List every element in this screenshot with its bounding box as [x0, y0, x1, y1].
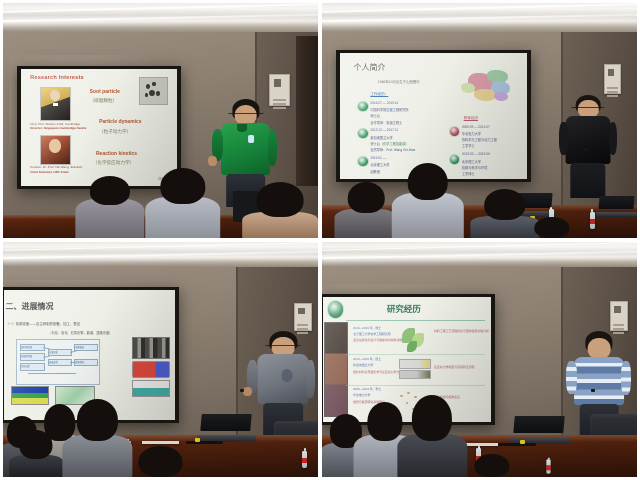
presenter-glasses — [266, 345, 301, 346]
presenter-glasses — [228, 113, 263, 114]
audience-member — [398, 395, 467, 477]
row-2-period: 2013—2016 年，硕士 — [353, 357, 381, 361]
water-bottle — [302, 451, 307, 468]
shirt-graphic — [281, 369, 292, 382]
gel-band-figure — [399, 370, 431, 380]
soot-particle-image — [139, 77, 168, 105]
ceiling-cove-lighting — [322, 3, 637, 34]
edu-1-role: 热科学与工程与动力工程 — [462, 137, 497, 142]
row-3-org: 华北电力大学 — [353, 393, 370, 397]
audience-member — [335, 182, 398, 238]
row-2-org: 新加坡国立大学 — [353, 363, 373, 367]
slide-title: Research Interests — [30, 75, 84, 81]
work-3-org: 北京理工大学 — [370, 162, 389, 167]
work-3-period: 2019.01 — — [370, 156, 386, 160]
projection-screen: 个人简介 1986年10月出生于山西晋中 工作经历： 2016.07 — 201… — [340, 53, 527, 179]
flow-node: 纺丝成型 — [20, 363, 45, 371]
work-2-org: 新加坡国立大学 — [370, 135, 392, 140]
wall-control-panel[interactable] — [604, 64, 622, 94]
gel-band-figure — [399, 359, 431, 369]
audience-member — [63, 399, 132, 477]
edu-1-degree: 工学学士 — [462, 143, 475, 148]
collage-panel-bottom-right: 研究经历 2016—2019 年，博士 北京理工大学化学工程研究所 发表在催化剂… — [322, 242, 637, 477]
audience-glasses — [118, 196, 128, 199]
presenter-hand-left — [208, 156, 217, 167]
edu-2-degree: 工学博士 — [462, 171, 475, 176]
slide-subtitle: 1986年10月出生于山西晋中 — [378, 79, 420, 84]
bullet-2-cn: （粒子动力学） — [99, 129, 131, 135]
row-2-outcome: 反应动力学模型与实验验证对照 — [434, 365, 474, 369]
laptop[interactable] — [599, 196, 634, 217]
work-1-period: 2016.07 — 2019.12 — [370, 101, 398, 105]
title-rule — [346, 320, 484, 321]
collage-panel-top-left: Research Interests Host: Prof. Markus Kr… — [3, 3, 318, 238]
portrait-1-caption-line2: Director, Singapore Cambridge Centre — [30, 126, 86, 130]
presentation-clicker[interactable] — [240, 389, 244, 392]
row-divider — [346, 354, 484, 355]
row-3-period: 2009—2013 年，学士 — [353, 387, 381, 391]
university-emblem-icon — [327, 300, 344, 318]
sem-micrograph — [132, 337, 170, 360]
slide-subtitle: （一）前期准备——自主研制的制备、加工、表征 — [6, 321, 81, 326]
door-frame — [296, 36, 318, 186]
presenter-glasses — [572, 107, 605, 108]
portrait-2-caption-line2: Chief Scientist, USC Fuels — [30, 170, 69, 174]
presenter-legs — [570, 163, 605, 198]
shirt-collar — [238, 124, 248, 132]
audience-member — [145, 168, 221, 239]
wall-control-panel[interactable] — [610, 301, 628, 331]
portrait-2-caption-line1: Position: Dr. Prof. Hai Wang, Stanford — [30, 165, 82, 169]
slide-title: 个人简介 — [354, 62, 386, 73]
presenter-arm-left — [559, 122, 568, 155]
flow-node: 原料预处理 — [20, 344, 45, 352]
ceiling-cove-lighting — [3, 242, 318, 268]
photo-collage: Research Interests Host: Prof. Markus Kr… — [0, 0, 640, 480]
color-map-figure — [132, 361, 170, 377]
presenter-torso — [566, 116, 611, 164]
bullet-3-en: Reaction kinetics — [96, 151, 137, 157]
section-right-header: 教育经历 — [464, 116, 478, 121]
bullet-2-en: Particle dynamics — [99, 119, 142, 125]
row-1-period: 2016—2019 年，博士 — [353, 326, 381, 330]
laptop[interactable] — [201, 414, 251, 442]
china-map-graphic — [456, 65, 519, 108]
presenter-arm-left — [566, 361, 576, 394]
bullet-1-en: Soot particle — [90, 89, 120, 95]
slide-personal-intro: 个人简介 1986年10月出生于山西晋中 工作经历： 2016.07 — 201… — [340, 53, 527, 179]
flow-node: 前驱体制备 — [20, 353, 45, 361]
ceiling-cove-lighting — [3, 3, 318, 34]
org-badge — [357, 156, 368, 167]
presenter-torso — [574, 357, 624, 406]
row-2-desc: 催化材料表界面化学与反应动力学分析 — [353, 370, 402, 374]
yellow-object — [520, 440, 525, 444]
edu-1-org: 华北电力大学 — [462, 131, 481, 136]
row-1-org: 北京理工大学化学工程研究所 — [353, 332, 391, 336]
work-1-role: 博士后 — [370, 113, 380, 118]
row-1-outcome: 材料工程工艺流程优化与结构性能关联分析 — [434, 329, 489, 333]
audience-member — [9, 430, 63, 477]
cable — [498, 443, 536, 446]
audience-member — [132, 446, 189, 477]
bullet-1-cn: （碳烟颗粒） — [90, 98, 118, 104]
slide-subtitle-2: （氧化、炭化、石墨化等，能谱、显微光谱） — [48, 330, 112, 335]
audience-member — [242, 182, 318, 238]
presentation-clicker[interactable] — [591, 389, 595, 392]
presenter-torso — [221, 123, 271, 175]
collage-panel-top-right: 个人简介 1986年10月出生于山西晋中 工作经历： 2016.07 — 201… — [322, 3, 637, 238]
portrait-photo-2 — [40, 135, 72, 165]
presenter-arm-right — [306, 360, 315, 398]
ceiling-cove-lighting — [322, 242, 637, 268]
shirt-logo — [249, 135, 255, 143]
presenter-arm-right — [621, 361, 631, 395]
org-badge — [449, 126, 460, 137]
presenter-arm-right — [609, 122, 618, 155]
edu-2-period: 2013.09 — 2019.06 — [462, 152, 490, 156]
flow-node: 表面改性 — [48, 359, 71, 367]
water-bottle — [590, 212, 595, 229]
flow-node: 高温炭化 — [48, 349, 71, 357]
work-2-period: 2013.12 — 2017.11 — [370, 128, 398, 132]
collage-panel-bottom-left: 二、进展情况 （一）前期准备——自主研制的制备、加工、表征 （氧化、炭化、石墨化… — [3, 242, 318, 477]
presenter-arm-right — [268, 130, 277, 167]
section-left-header: 工作经历： — [370, 92, 388, 97]
org-badge — [357, 128, 368, 139]
presenter-hand-left — [243, 387, 252, 397]
audience-member — [75, 175, 144, 238]
work-2-advisor: 自然导师：Prof. Wang Chi-Hwa — [370, 147, 415, 152]
presentation-clicker[interactable] — [584, 148, 588, 151]
portrait-1-caption-line1: Host: Prof. Markus Kraft, Cambridge — [30, 122, 80, 126]
edu-2-org: 北京理工大学 — [462, 159, 481, 164]
work-1-advisor: 合作导师：张锁江院士 — [370, 120, 402, 125]
wall-control-panel[interactable] — [294, 303, 312, 331]
process-flowchart: 原料预处理 前驱体制备 纺丝成型 高温炭化 表面改性 结构表征 性能测试 — [16, 339, 100, 385]
presenter-torso — [258, 354, 309, 404]
photo-filmstrip — [324, 322, 348, 417]
slide-title: 二、进展情况 — [6, 301, 54, 312]
notepad — [142, 441, 180, 444]
audience-member — [391, 163, 463, 238]
leaf-graphic — [407, 341, 417, 352]
cable — [186, 441, 224, 444]
audience-member — [530, 217, 574, 238]
work-2-role: 博士后（化学工程及能源） — [370, 141, 408, 146]
water-bottle — [546, 459, 550, 473]
edu-1-period: 2009.09 — 2013.07 — [462, 125, 490, 129]
yellow-object — [195, 438, 200, 442]
edu-2-role: 机械与科学与环境 — [462, 165, 488, 170]
flow-node: 结构表征 — [74, 344, 97, 352]
row-divider — [346, 385, 484, 386]
slide-title: 研究经历 — [387, 303, 421, 315]
spectrum-figure — [11, 386, 49, 405]
flow-node: 性能测试 — [74, 359, 97, 367]
particle-figure — [132, 380, 170, 398]
presenter-black-polo — [561, 95, 615, 198]
work-3-role: 副教授 — [370, 169, 380, 174]
bullet-3-cn: （化学反应动力学） — [93, 160, 134, 166]
portrait-photo-1 — [40, 87, 72, 122]
work-1-org: 中国科学院过程工程研究所 — [370, 107, 408, 112]
audience-member — [470, 454, 514, 478]
org-badge — [357, 101, 368, 112]
